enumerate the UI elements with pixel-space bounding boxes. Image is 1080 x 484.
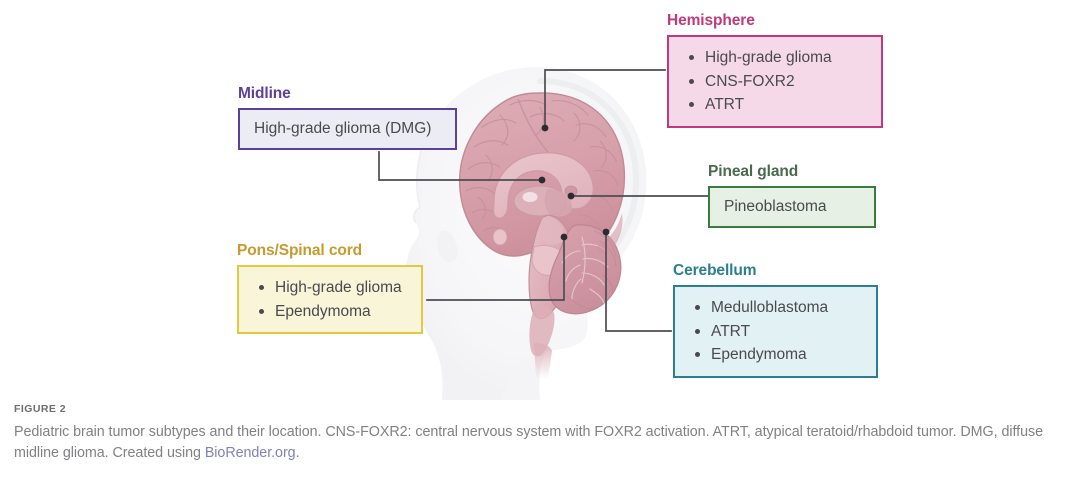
figure-canvas: Hemisphere High-grade glioma CNS-FOXR2 A… xyxy=(0,0,1080,398)
list-item: ATRT xyxy=(689,320,862,344)
list-item: Medulloblastoma xyxy=(689,296,862,320)
callout-cerebellum: Cerebellum Medulloblastoma ATRT Ependymo… xyxy=(673,262,878,378)
caption-text-part1: Pediatric brain tumor subtypes and their… xyxy=(14,424,1043,461)
biorender-link[interactable]: BioRender.org xyxy=(205,445,296,461)
callout-list-pons-spinal-cord: High-grade glioma Ependymoma xyxy=(253,276,407,323)
callout-box-pineal-gland: Pineoblastoma xyxy=(708,186,876,228)
callout-title-cerebellum: Cerebellum xyxy=(673,262,878,280)
callout-title-hemisphere: Hemisphere xyxy=(667,12,883,30)
list-item: ATRT xyxy=(683,93,867,117)
callout-box-pons-spinal-cord: High-grade glioma Ependymoma xyxy=(237,265,423,334)
callout-list-hemisphere: High-grade glioma CNS-FOXR2 ATRT xyxy=(683,46,867,117)
callout-hemisphere: Hemisphere High-grade glioma CNS-FOXR2 A… xyxy=(667,12,883,128)
callout-item-midline: High-grade glioma (DMG) xyxy=(254,118,441,140)
callout-box-cerebellum: Medulloblastoma ATRT Ependymoma xyxy=(673,285,878,378)
callout-box-hemisphere: High-grade glioma CNS-FOXR2 ATRT xyxy=(667,35,883,128)
callout-pons-spinal-cord: Pons/Spinal cord High-grade glioma Epend… xyxy=(237,242,423,334)
list-item: Ependymoma xyxy=(689,343,862,367)
callout-midline: Midline High-grade glioma (DMG) xyxy=(238,85,457,150)
list-item: Ependymoma xyxy=(253,300,407,324)
list-item: High-grade glioma xyxy=(683,46,867,70)
callout-title-midline: Midline xyxy=(238,85,457,103)
callout-title-pineal-gland: Pineal gland xyxy=(708,163,876,181)
caption-text: Pediatric brain tumor subtypes and their… xyxy=(14,422,1069,464)
figure-caption: FIGURE 2 Pediatric brain tumor subtypes … xyxy=(14,403,1069,464)
callout-pineal-gland: Pineal gland Pineoblastoma xyxy=(708,163,876,228)
caption-text-part2: . xyxy=(296,445,300,461)
callout-box-midline: High-grade glioma (DMG) xyxy=(238,108,457,150)
callout-title-pons-spinal-cord: Pons/Spinal cord xyxy=(237,242,423,260)
callout-item-pineal-gland: Pineoblastoma xyxy=(724,196,860,218)
figure-label: FIGURE 2 xyxy=(14,403,1069,415)
callout-list-cerebellum: Medulloblastoma ATRT Ependymoma xyxy=(689,296,862,367)
list-item: High-grade glioma xyxy=(253,276,407,300)
list-item: CNS-FOXR2 xyxy=(683,70,867,94)
